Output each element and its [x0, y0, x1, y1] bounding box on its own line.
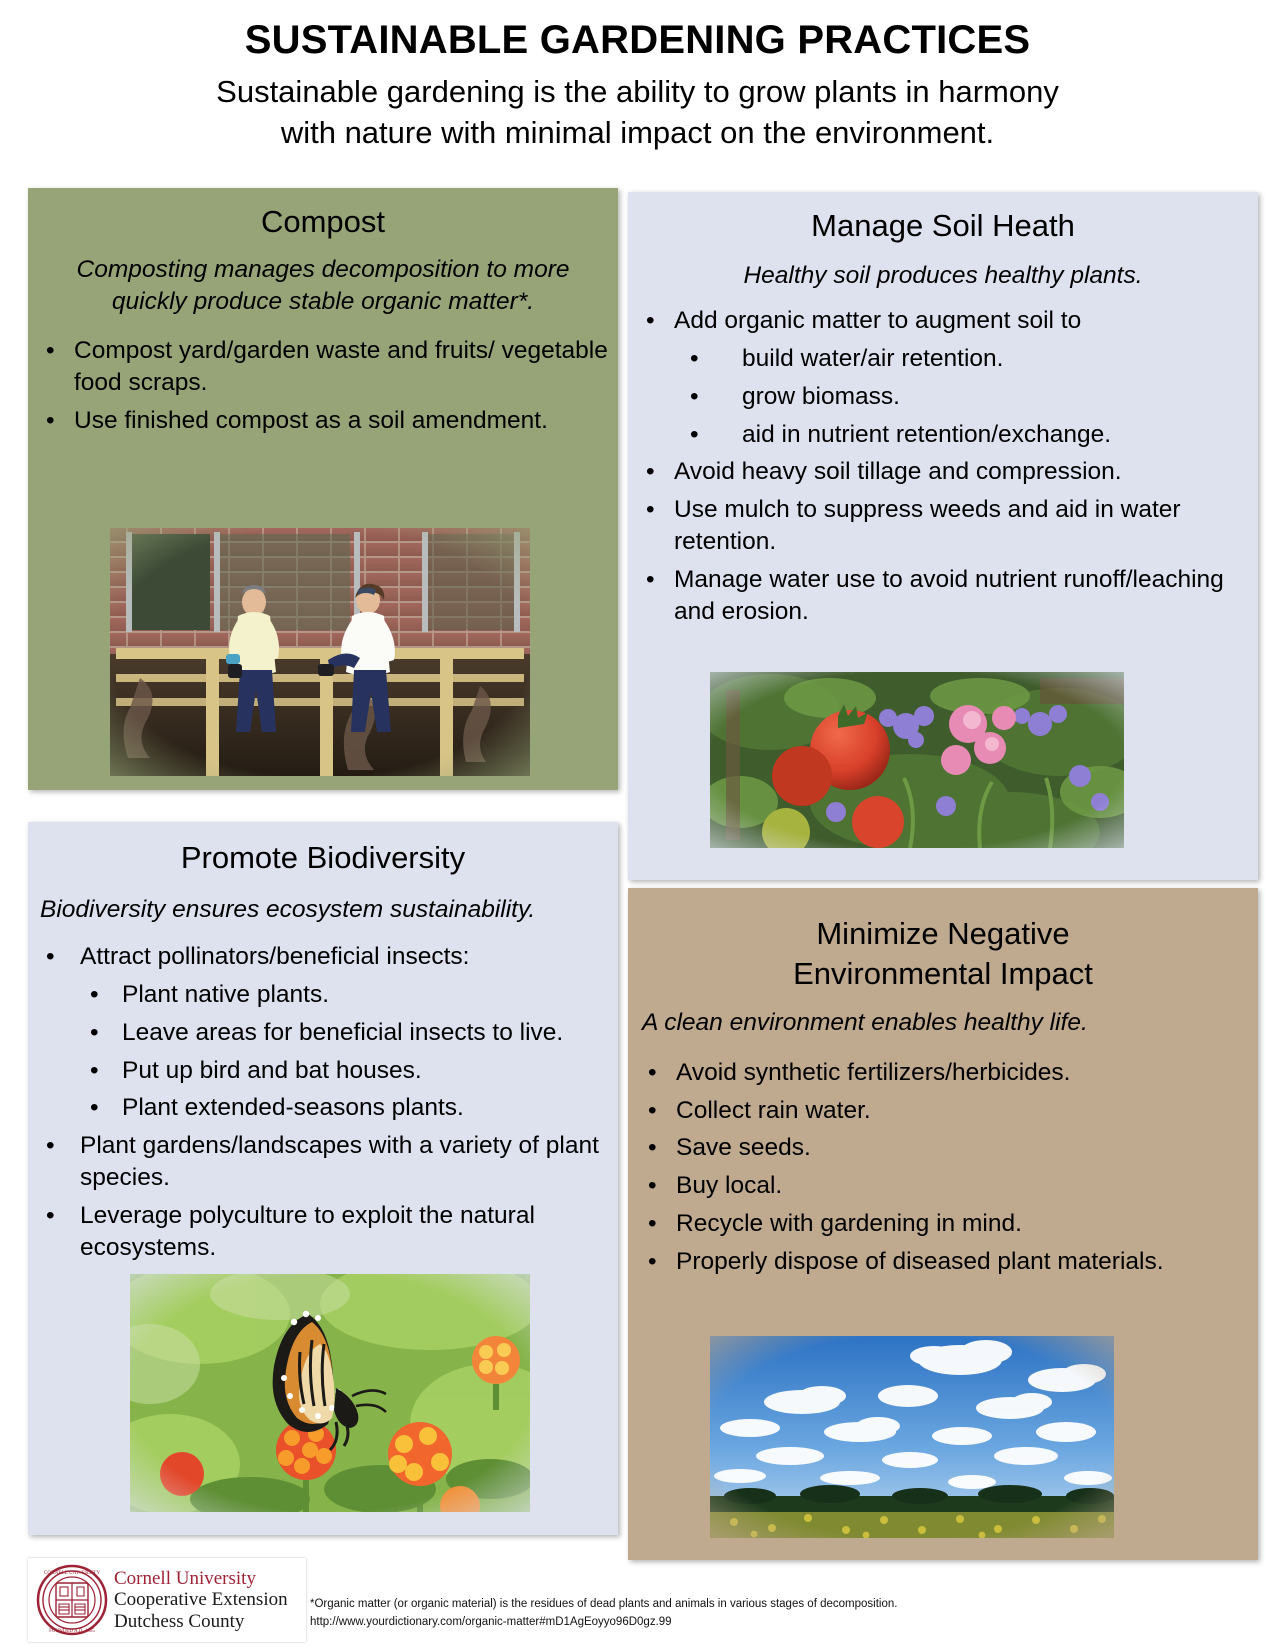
bullet-item: •Use mulch to suppress weeds and aid in …: [636, 494, 1258, 558]
bullet-text: Put up bird and bat houses.: [122, 1055, 618, 1087]
bullet-marker-icon: •: [690, 381, 699, 413]
bullet-text: Properly dispose of diseased plant mater…: [676, 1246, 1258, 1278]
footnote: *Organic matter (or organic material) is…: [310, 1596, 1010, 1632]
panel-manage-soil-heath-title: Manage Soil Heath: [628, 192, 1258, 246]
panel-promote-biodiversity: Promote Biodiversity Biodiversity ensure…: [28, 822, 618, 1535]
bullet-marker-icon: •: [648, 1246, 657, 1278]
panel-minimize-bullet-list: •Avoid synthetic fertilizers/herbicides.…: [628, 1057, 1258, 1278]
bullet-text: build water/air retention.: [742, 343, 1258, 375]
bullet-text: Add organic matter to augment soil to: [674, 305, 1258, 337]
bullet-marker-icon: •: [90, 1092, 99, 1124]
panel-manage-soil-heath-bullet-list: •Add organic matter to augment soil to•b…: [628, 305, 1258, 628]
bullet-item: •Plant extended-seasons plants.: [38, 1092, 618, 1124]
bullet-marker-icon: •: [648, 1208, 657, 1240]
bullet-text: Compost yard/garden waste and fruits/ ve…: [74, 335, 618, 399]
biodiversity-photo: [130, 1274, 530, 1512]
infographic-page: SUSTAINABLE GARDENING PRACTICES Sustaina…: [0, 0, 1275, 1650]
panel-promote-biodiversity-title: Promote Biodiversity: [28, 822, 618, 878]
bullet-item: •Add organic matter to augment soil to: [636, 305, 1258, 337]
bullet-text: Plant native plants.: [122, 979, 618, 1011]
compost-photo: [110, 528, 530, 776]
panel-minimize-tagline: A clean environment enables healthy life…: [628, 993, 1258, 1038]
cornell-cooperative-extension-logo: CORNELL UNIVERSITY FOUNDED A.D. 1865 Cor…: [28, 1558, 306, 1642]
logo-line-cooperative-extension: Cooperative Extension: [114, 1589, 288, 1611]
bullet-text: Recycle with gardening in mind.: [676, 1208, 1258, 1240]
bullet-text: Plant gardens/landscapes with a variety …: [80, 1130, 618, 1194]
cornell-seal-icon: CORNELL UNIVERSITY FOUNDED A.D. 1865: [36, 1564, 108, 1636]
bullet-marker-icon: •: [90, 1017, 99, 1049]
bullet-item: •Recycle with gardening in mind.: [642, 1208, 1258, 1240]
panel-compost-tagline: Composting manages decomposition to more…: [28, 242, 618, 318]
bullet-marker-icon: •: [46, 405, 55, 437]
bullet-marker-icon: •: [90, 979, 99, 1011]
logo-line-cornell-university: Cornell University: [114, 1568, 288, 1590]
bullet-text: Collect rain water.: [676, 1095, 1258, 1127]
bullet-item: •Buy local.: [642, 1170, 1258, 1202]
panel-compost-title: Compost: [28, 188, 618, 242]
bullet-text: Plant extended-seasons plants.: [122, 1092, 618, 1124]
bullet-item: •Use finished compost as a soil amendmen…: [40, 405, 618, 437]
bullet-text: Leverage polyculture to exploit the natu…: [80, 1200, 618, 1264]
bullet-item: •Manage water use to avoid nutrient runo…: [636, 564, 1258, 628]
panel-minimize-title-line-1: Minimize Negative: [628, 914, 1258, 954]
bullet-item: •Attract pollinators/beneficial insects:: [38, 941, 618, 973]
footnote-definition: *Organic matter (or organic material) is…: [310, 1596, 1010, 1614]
bullet-marker-icon: •: [646, 456, 655, 488]
bullet-text: Avoid synthetic fertilizers/herbicides.: [676, 1057, 1258, 1089]
seal-top-text: CORNELL UNIVERSITY: [44, 1570, 100, 1576]
bullet-marker-icon: •: [46, 1130, 55, 1162]
bullet-item: •grow biomass.: [636, 381, 1258, 413]
environment-photo: [710, 1336, 1114, 1538]
panel-minimize-negative-environmental-impact: Minimize Negative Environmental Impact A…: [628, 888, 1258, 1560]
page-subtitle: Sustainable gardening is the ability to …: [0, 60, 1275, 154]
logo-line-dutchess-county: Dutchess County: [114, 1611, 288, 1633]
bullet-marker-icon: •: [46, 335, 55, 367]
bullet-text: Buy local.: [676, 1170, 1258, 1202]
page-subtitle-line-2: with nature with minimal impact on the e…: [0, 113, 1275, 154]
bullet-item: •Leave areas for beneficial insects to l…: [38, 1017, 618, 1049]
panel-compost: Compost Composting manages decomposition…: [28, 188, 618, 790]
cornell-logo-text: Cornell University Cooperative Extension…: [114, 1568, 288, 1633]
footnote-source-url[interactable]: http://www.yourdictionary.com/organic-ma…: [310, 1614, 1010, 1632]
bullet-marker-icon: •: [690, 419, 699, 451]
bullet-marker-icon: •: [46, 1200, 55, 1232]
panel-manage-soil-heath-tagline: Healthy soil produces healthy plants.: [628, 246, 1258, 291]
panel-promote-biodiversity-bullet-list: •Attract pollinators/beneficial insects:…: [28, 941, 618, 1264]
bullet-marker-icon: •: [646, 305, 655, 337]
bullet-marker-icon: •: [646, 494, 655, 526]
bullet-item: •aid in nutrient retention/exchange.: [636, 419, 1258, 451]
bullet-text: Leave areas for beneficial insects to li…: [122, 1017, 618, 1049]
bullet-marker-icon: •: [646, 564, 655, 596]
panel-minimize-title: Minimize Negative Environmental Impact: [628, 888, 1258, 993]
bullet-marker-icon: •: [648, 1095, 657, 1127]
bullet-marker-icon: •: [648, 1057, 657, 1089]
bullet-item: •Save seeds.: [642, 1132, 1258, 1164]
seal-bottom-text: FOUNDED A.D. 1865: [49, 1629, 95, 1634]
bullet-item: •Put up bird and bat houses.: [38, 1055, 618, 1087]
bullet-text: Attract pollinators/beneficial insects:: [80, 941, 618, 973]
bullet-text: Manage water use to avoid nutrient runof…: [674, 564, 1258, 628]
bullet-text: Use finished compost as a soil amendment…: [74, 405, 618, 437]
bullet-marker-icon: •: [46, 941, 55, 973]
bullet-text: grow biomass.: [742, 381, 1258, 413]
bullet-marker-icon: •: [648, 1170, 657, 1202]
bullet-marker-icon: •: [648, 1132, 657, 1164]
bullet-item: •build water/air retention.: [636, 343, 1258, 375]
bullet-item: •Plant gardens/landscapes with a variety…: [38, 1130, 618, 1194]
page-title: SUSTAINABLE GARDENING PRACTICES: [0, 0, 1275, 60]
header: SUSTAINABLE GARDENING PRACTICES Sustaina…: [0, 0, 1275, 154]
panel-minimize-title-line-2: Environmental Impact: [628, 954, 1258, 994]
bullet-text: aid in nutrient retention/exchange.: [742, 419, 1258, 451]
bullet-text: Use mulch to suppress weeds and aid in w…: [674, 494, 1258, 558]
bullet-marker-icon: •: [90, 1055, 99, 1087]
bullet-item: •Avoid synthetic fertilizers/herbicides.: [642, 1057, 1258, 1089]
soil-health-photo: [710, 672, 1124, 848]
bullet-text: Save seeds.: [676, 1132, 1258, 1164]
bullet-item: •Leverage polyculture to exploit the nat…: [38, 1200, 618, 1264]
panel-manage-soil-heath: Manage Soil Heath Healthy soil produces …: [628, 192, 1258, 880]
bullet-text: Avoid heavy soil tillage and compression…: [674, 456, 1258, 488]
panel-compost-bullet-list: •Compost yard/garden waste and fruits/ v…: [28, 335, 618, 437]
bullet-item: •Plant native plants.: [38, 979, 618, 1011]
bullet-item: •Collect rain water.: [642, 1095, 1258, 1127]
bullet-item: •Compost yard/garden waste and fruits/ v…: [40, 335, 618, 399]
panel-promote-biodiversity-tagline: Biodiversity ensures ecosystem sustainab…: [28, 878, 618, 925]
bullet-item: •Properly dispose of diseased plant mate…: [642, 1246, 1258, 1278]
bullet-item: •Avoid heavy soil tillage and compressio…: [636, 456, 1258, 488]
page-subtitle-line-1: Sustainable gardening is the ability to …: [0, 72, 1275, 113]
bullet-marker-icon: •: [690, 343, 699, 375]
